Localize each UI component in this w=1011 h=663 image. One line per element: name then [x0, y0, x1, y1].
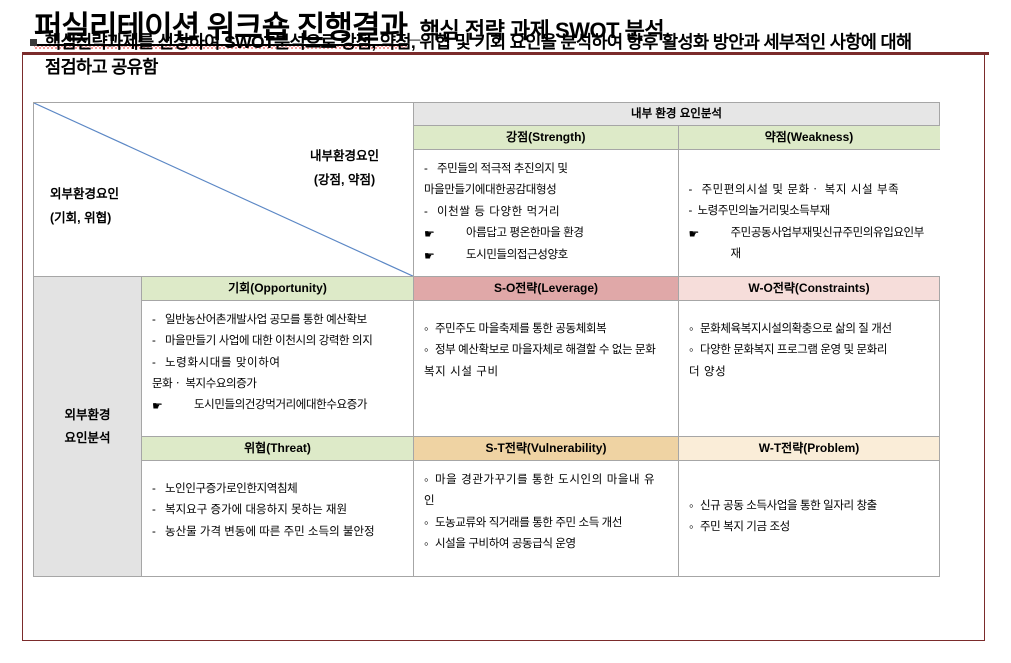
- list-item: ◦문화체육복지시설의확충으로 삶의 질 개선: [689, 319, 931, 340]
- dash-bullet-icon: -: [152, 310, 161, 331]
- list-item-text: 농산물 가격 변동에 따른 주민 소득의 불안정: [165, 522, 405, 543]
- list-item-text: 도시민들의접근성양호: [466, 245, 670, 266]
- circle-bullet-icon: ◦: [424, 534, 431, 554]
- list-item: ◦정부 예산확보로 마을자체로 해결할 수 없는 문화: [424, 340, 670, 361]
- list-item-text: 주민공동사업부재및신규주민의유입요인부재: [731, 223, 932, 266]
- table-row-opportunity-bodies: -일반농산어촌개발사업 공모를 통한 예산확보 -마을만들기 사업에 대한 이천…: [34, 301, 940, 437]
- list-item-text: 일반농산어촌개발사업 공모를 통한 예산확보: [165, 310, 405, 331]
- list-item-text: 신규 공동 소득사업을 통한 일자리 창출: [700, 496, 931, 517]
- table-row-internal-banner: 내부환경요인 (강점, 약점) 외부환경요인 (기회, 위협) 내부 환경 요인…: [34, 103, 940, 126]
- list-item: -주민들의 적극적 추진의지 및: [424, 159, 670, 180]
- list-item-text: 문화체육복지시설의확충으로 삶의 질 개선: [700, 319, 931, 340]
- list-item-text: 복지 시설 구비: [424, 362, 670, 383]
- list-item-text: 노령주민의놀거리및소득부재: [698, 201, 932, 222]
- list-item: 인: [424, 491, 670, 512]
- circle-bullet-icon: ◦: [689, 340, 696, 360]
- circle-bullet-icon: ◦: [424, 513, 431, 533]
- list-item: ☛도시민들의접근성양호: [424, 245, 670, 267]
- circle-bullet-icon: ◦: [424, 340, 431, 360]
- headline-bullet: 핵심전략과제를 선정하여 SWOT분석으로 강점, 약점, 위협 및 기회 요인…: [30, 30, 930, 81]
- corner-internal-label: 내부환경요인 (강점, 약점): [310, 145, 379, 193]
- strength-list: -주민들의 적극적 추진의지 및 마을만들기에대한공감대형성 -이천쌀 등 다양…: [414, 150, 678, 276]
- corner-internal-line2: (강점, 약점): [310, 169, 379, 193]
- corner-external-line1: 외부환경요인: [50, 183, 119, 207]
- weakness-list: -주민편의시설 및 문화ㆍ 복지 시설 부족 -노령주민의놀거리및소득부재 ☛주…: [679, 150, 940, 274]
- list-item-text: 주민 복지 기금 조성: [700, 517, 931, 538]
- list-item: -마을만들기 사업에 대한 이천시의 강력한 의지: [152, 331, 405, 352]
- list-item: -노령화시대를 맞이하여: [152, 353, 405, 374]
- cell-so-strategy: ◦주민주도 마을축제를 통한 공동체회복 ◦정부 예산확보로 마을자체로 해결할…: [414, 301, 679, 437]
- circle-bullet-icon: ◦: [689, 517, 696, 537]
- side-label-line1: 외부환경: [34, 404, 141, 427]
- so-strategy-list: ◦주민주도 마을축제를 통한 공동체회복 ◦정부 예산확보로 마을자체로 해결할…: [414, 301, 678, 392]
- list-item: 마을만들기에대한공감대형성: [424, 180, 670, 201]
- dash-bullet-icon: -: [424, 202, 433, 223]
- list-item: ◦주민주도 마을축제를 통한 공동체회복: [424, 319, 670, 340]
- wo-strategy-list: ◦문화체육복지시설의확충으로 삶의 질 개선 ◦다양한 문화복지 프로그램 운영…: [679, 301, 939, 392]
- list-item: 더 양성: [689, 362, 931, 383]
- list-item-text: 노령화시대를 맞이하여: [165, 353, 405, 374]
- side-label-line2: 요인분석: [34, 427, 141, 450]
- square-bullet-icon: [30, 39, 37, 46]
- list-item: -노인인구증가로인한지역침체: [152, 479, 405, 500]
- wt-strategy-list: ◦신규 공동 소득사업을 통한 일자리 창출 ◦주민 복지 기금 조성: [679, 461, 939, 548]
- table-row-threat-bodies: -노인인구증가로인한지역침체 -복지요구 증가에 대응하지 못하는 재원 -농산…: [34, 461, 940, 577]
- hand-pointer-icon: ☛: [689, 223, 727, 245]
- list-item-text: 도시민들의건강먹거리에대한수요증가: [194, 395, 405, 416]
- list-item-text: 도농교류와 직거래를 통한 주민 소득 개선: [435, 513, 670, 534]
- dash-bullet-icon: -: [689, 201, 694, 222]
- list-item: -복지요구 증가에 대응하지 못하는 재원: [152, 500, 405, 521]
- list-item: -일반농산어촌개발사업 공모를 통한 예산확보: [152, 310, 405, 331]
- cell-wo-strategy: ◦문화체육복지시설의확충으로 삶의 질 개선 ◦다양한 문화복지 프로그램 운영…: [679, 301, 940, 437]
- list-item: 복지 시설 구비: [424, 362, 670, 383]
- list-item-text: 주민편의시설 및 문화ㆍ 복지 시설 부족: [702, 180, 932, 201]
- list-item: ◦마을 경관가꾸기를 통한 도시인의 마을내 유: [424, 470, 670, 491]
- header-threat: 위협(Threat): [142, 437, 414, 461]
- weakness-column-wrap: 약점(Weakness) -주민편의시설 및 문화ㆍ 복지 시설 부족 -노령주…: [679, 126, 940, 277]
- header-opportunity: 기회(Opportunity): [142, 277, 414, 301]
- internal-environment-banner: 내부 환경 요인분석: [414, 103, 940, 126]
- cell-st-strategy: ◦마을 경관가꾸기를 통한 도시인의 마을내 유 인 ◦도농교류와 직거래를 통…: [414, 461, 679, 577]
- list-item: ◦도농교류와 직거래를 통한 주민 소득 개선: [424, 513, 670, 534]
- list-item-text: 노인인구증가로인한지역침체: [165, 479, 405, 500]
- cell-opportunity: -일반농산어촌개발사업 공모를 통한 예산확보 -마을만들기 사업에 대한 이천…: [142, 301, 414, 437]
- circle-bullet-icon: ◦: [689, 496, 696, 516]
- list-item: ◦주민 복지 기금 조성: [689, 517, 931, 538]
- list-item-text: 다양한 문화복지 프로그램 운영 및 문화리: [700, 340, 931, 361]
- list-item-text: 주민주도 마을축제를 통한 공동체회복: [435, 319, 670, 340]
- list-item-text: 복지요구 증가에 대응하지 못하는 재원: [165, 500, 405, 521]
- header-st-strategy: S-T전략(Vulnerability): [414, 437, 679, 461]
- dash-bullet-icon: -: [152, 500, 161, 521]
- list-item-text: 마을만들기 사업에 대한 이천시의 강력한 의지: [165, 331, 405, 352]
- list-item: ◦다양한 문화복지 프로그램 운영 및 문화리: [689, 340, 931, 361]
- header-strength: 강점(Strength): [414, 126, 678, 150]
- circle-bullet-icon: ◦: [689, 319, 696, 339]
- list-item-text: 아름답고 평온한마을 환경: [466, 223, 670, 244]
- list-item-text: 인: [424, 491, 670, 512]
- table-row-threat-headers: 위협(Threat) S-T전략(Vulnerability) W-T전략(Pr…: [34, 437, 940, 461]
- cell-wt-strategy: ◦신규 공동 소득사업을 통한 일자리 창출 ◦주민 복지 기금 조성: [679, 461, 940, 577]
- table-row-opportunity-headers: 외부환경 요인분석 기회(Opportunity) S-O전략(Leverage…: [34, 277, 940, 301]
- list-item-text: 마을 경관가꾸기를 통한 도시인의 마을내 유: [435, 470, 670, 491]
- dash-bullet-icon: -: [424, 159, 433, 180]
- list-item: -농산물 가격 변동에 따른 주민 소득의 불안정: [152, 522, 405, 543]
- hand-pointer-icon: ☛: [152, 395, 190, 417]
- list-item: 문화ㆍ 복지수요의증가: [152, 374, 405, 395]
- list-item-text: 마을만들기에대한공감대형성: [424, 180, 670, 201]
- corner-internal-line1: 내부환경요인: [310, 145, 379, 169]
- strength-column-wrap: 강점(Strength) -주민들의 적극적 추진의지 및 마을만들기에대한공감…: [414, 126, 679, 277]
- header-wt-strategy: W-T전략(Problem): [679, 437, 940, 461]
- matrix-corner-cell: 내부환경요인 (강점, 약점) 외부환경요인 (기회, 위협): [34, 103, 414, 277]
- list-item: ☛도시민들의건강먹거리에대한수요증가: [152, 395, 405, 417]
- circle-bullet-icon: ◦: [424, 319, 431, 339]
- dash-bullet-icon: -: [152, 353, 161, 374]
- headline-text: 핵심전략과제를 선정하여 SWOT분석으로 강점, 약점, 위협 및 기회 요인…: [45, 30, 930, 81]
- list-item-text: 정부 예산확보로 마을자체로 해결할 수 없는 문화: [435, 340, 670, 361]
- opportunity-list: -일반농산어촌개발사업 공모를 통한 예산확보 -마을만들기 사업에 대한 이천…: [142, 301, 413, 426]
- dash-bullet-icon: -: [152, 331, 161, 352]
- list-item: ◦신규 공동 소득사업을 통한 일자리 창출: [689, 496, 931, 517]
- cell-threat: -노인인구증가로인한지역침체 -복지요구 증가에 대응하지 못하는 재원 -농산…: [142, 461, 414, 577]
- list-item: ☛주민공동사업부재및신규주민의유입요인부재: [689, 223, 932, 266]
- list-item: -노령주민의놀거리및소득부재: [689, 201, 932, 222]
- list-item-text: 주민들의 적극적 추진의지 및: [437, 159, 670, 180]
- list-item-text: 시설을 구비하여 공동급식 운영: [435, 534, 670, 555]
- list-item-text: 이천쌀 등 다양한 먹거리: [437, 202, 670, 223]
- list-item: ◦시설을 구비하여 공동급식 운영: [424, 534, 670, 555]
- list-item-text: 문화ㆍ 복지수요의증가: [152, 374, 405, 395]
- hand-pointer-icon: ☛: [424, 223, 462, 245]
- external-environment-side-label: 외부환경 요인분석: [34, 277, 142, 577]
- dash-bullet-icon: -: [152, 479, 161, 500]
- dash-bullet-icon: -: [689, 180, 698, 201]
- cell-weakness: -주민편의시설 및 문화ㆍ 복지 시설 부족 -노령주민의놀거리및소득부재 ☛주…: [679, 150, 940, 275]
- st-strategy-list: ◦마을 경관가꾸기를 통한 도시인의 마을내 유 인 ◦도농교류와 직거래를 통…: [414, 461, 678, 564]
- dash-bullet-icon: -: [152, 522, 161, 543]
- list-item-text: 더 양성: [689, 362, 931, 383]
- corner-external-label: 외부환경요인 (기회, 위협): [50, 183, 119, 231]
- header-wo-strategy: W-O전략(Constraints): [679, 277, 940, 301]
- list-item: -이천쌀 등 다양한 먹거리: [424, 202, 670, 223]
- hand-pointer-icon: ☛: [424, 245, 462, 267]
- header-weakness: 약점(Weakness): [679, 126, 940, 150]
- header-so-strategy: S-O전략(Leverage): [414, 277, 679, 301]
- list-item: ☛아름답고 평온한마을 환경: [424, 223, 670, 245]
- cell-strength: -주민들의 적극적 추진의지 및 마을만들기에대한공감대형성 -이천쌀 등 다양…: [414, 150, 678, 277]
- corner-external-line2: (기회, 위협): [50, 207, 119, 231]
- swot-matrix-table: 내부환경요인 (강점, 약점) 외부환경요인 (기회, 위협) 내부 환경 요인…: [33, 102, 940, 577]
- list-item: -주민편의시설 및 문화ㆍ 복지 시설 부족: [689, 180, 932, 201]
- circle-bullet-icon: ◦: [424, 470, 431, 490]
- threat-list: -노인인구증가로인한지역침체 -복지요구 증가에 대응하지 못하는 재원 -농산…: [142, 461, 413, 552]
